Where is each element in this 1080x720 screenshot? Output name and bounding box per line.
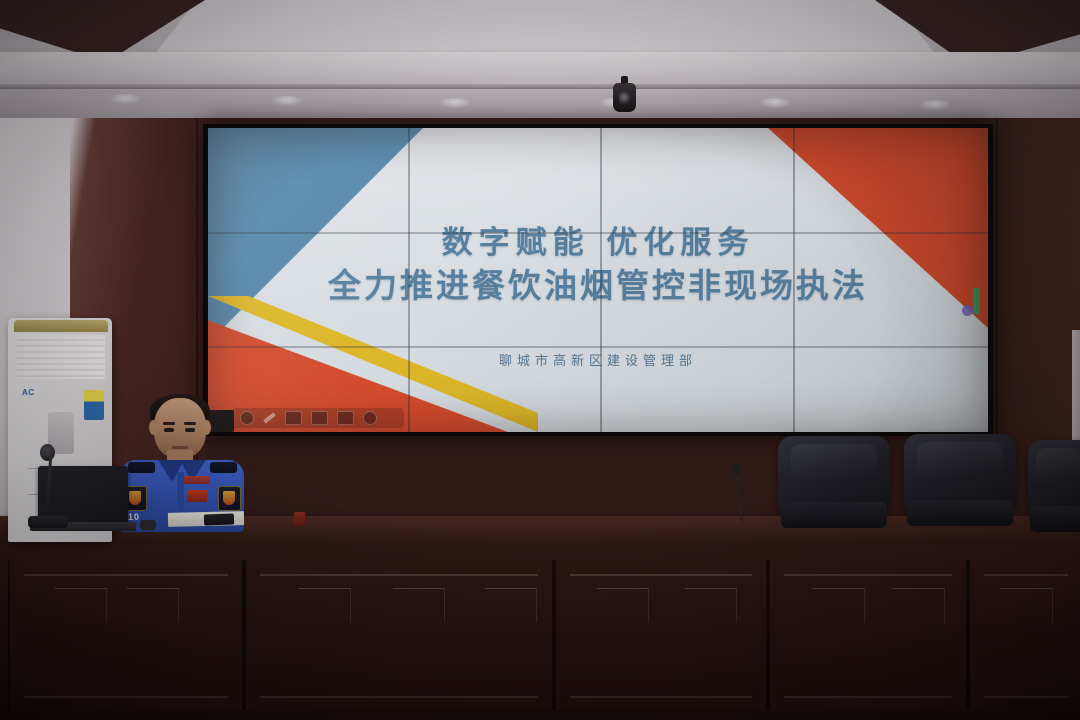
wood-panel — [244, 560, 554, 710]
presentation-toolbar[interactable] — [232, 408, 404, 428]
conference-room-photo: 数字赋能 优化服务 全力推进餐饮油烟管控非现场执法 聊城市高新区建设管理部 — [0, 0, 1080, 720]
chair-2[interactable] — [904, 434, 1016, 534]
ceiling-recess — [150, 0, 940, 60]
ac-brand-label: AC — [22, 388, 35, 397]
chair-seat — [907, 500, 1012, 526]
chair-1[interactable] — [778, 436, 890, 536]
person-eye-right — [185, 428, 195, 432]
slide-title-line-2: 全力推进餐饮油烟管控非现场执法 — [208, 265, 988, 308]
uniform-chest-badge — [187, 490, 207, 502]
panel-seam-horizontal — [208, 346, 988, 348]
person-brow-left — [163, 422, 175, 425]
patch-crest-icon — [129, 491, 141, 505]
presentation-slide: 数字赋能 优化服务 全力推进餐饮油烟管控非现场执法 聊城市高新区建设管理部 — [208, 128, 988, 432]
chair-seat — [1030, 506, 1080, 532]
slide-subtitle: 聊城市高新区建设管理部 — [208, 350, 988, 369]
ceiling — [0, 0, 1080, 126]
downlight — [110, 94, 140, 104]
panel-seam-vertical — [793, 128, 795, 432]
downlight — [272, 96, 302, 106]
downlight — [760, 98, 790, 108]
person-mouth — [172, 446, 188, 449]
panel-inner-frame — [24, 574, 228, 698]
slide-title-line-1: 数字赋能 优化服务 — [208, 224, 988, 263]
pointer-icon[interactable] — [363, 411, 377, 425]
person-brow-right — [184, 422, 196, 425]
person-ear-right — [202, 420, 211, 435]
microphone-head — [40, 444, 55, 461]
patch-crest-icon — [223, 491, 235, 505]
video-wall-display[interactable]: 数字赋能 优化服务 全力推进餐饮油烟管控非现场执法 聊城市高新区建设管理部 — [208, 128, 988, 432]
screen-icon[interactable] — [337, 411, 354, 425]
video-wall[interactable]: 数字赋能 优化服务 全力推进餐饮油烟管控非现场执法 聊城市高新区建设管理部 — [203, 124, 993, 436]
chair-3[interactable] — [1028, 440, 1080, 536]
mobile-phone[interactable] — [204, 513, 234, 525]
camera-lens — [619, 92, 630, 106]
chair-seat — [781, 502, 886, 528]
person-eye-left — [164, 428, 174, 432]
speaker-person: 10 — [118, 398, 246, 530]
stamp-icon[interactable] — [285, 411, 302, 425]
wood-panel — [554, 560, 768, 710]
logo-bar — [973, 288, 980, 314]
logo-dot — [962, 305, 973, 316]
ceiling-cove — [0, 52, 1080, 86]
uniform-nameplate — [184, 476, 210, 484]
wood-panel — [8, 560, 244, 710]
ac-energy-label — [84, 390, 104, 420]
panel-seam-horizontal — [208, 232, 988, 234]
slide-logo-icon — [962, 288, 984, 318]
more-icon[interactable] — [386, 412, 396, 424]
wristwatch — [140, 520, 156, 530]
person-head — [154, 398, 206, 458]
wood-panel — [968, 560, 1080, 710]
panel-seam-vertical — [408, 128, 410, 432]
shoulder-patch-right — [218, 486, 241, 511]
slide-title-block: 数字赋能 优化服务 全力推进餐饮油烟管控非现场执法 — [208, 224, 988, 308]
epaulette-right — [210, 462, 237, 473]
ac-grille — [17, 335, 105, 379]
pen-icon[interactable] — [263, 412, 276, 423]
ceiling-camera-icon — [613, 76, 636, 112]
wood-panel — [768, 560, 968, 710]
video-icon[interactable] — [311, 411, 328, 425]
downlight — [920, 100, 950, 110]
microphone-base — [28, 516, 68, 528]
epaulette-left — [128, 462, 155, 473]
person-ear-left — [149, 420, 158, 435]
cup — [294, 512, 305, 526]
panel-seam-vertical — [600, 128, 602, 432]
downlight — [440, 98, 470, 108]
uniform-badge-number: 10 — [128, 512, 140, 522]
ac-top-trim — [14, 320, 108, 332]
